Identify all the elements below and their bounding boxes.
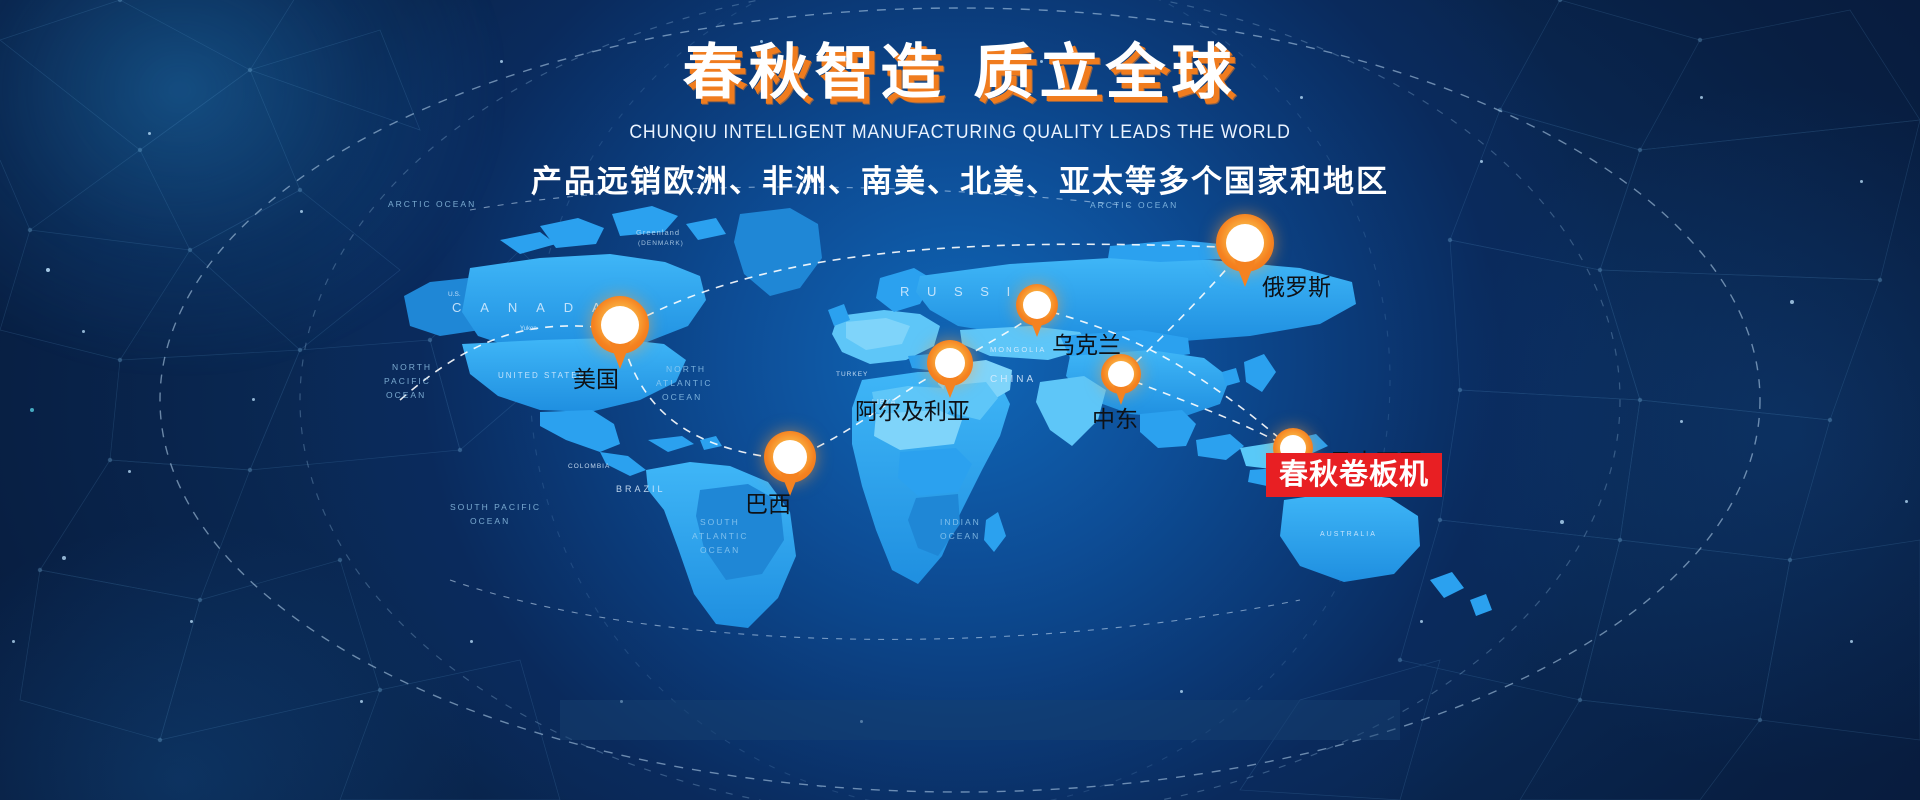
svg-text:ARCTIC OCEAN: ARCTIC OCEAN <box>1090 200 1178 210</box>
page-title: 春秋智造 质立全球 <box>0 42 1920 106</box>
headline-subtitle-cn: 产品远销欧洲、非洲、南美、北美、亚太等多个国家和地区 <box>0 156 1920 201</box>
map-pin-usa[interactable] <box>591 296 649 354</box>
map-pin-label-algeria: 阿尔及利亚 <box>855 392 970 426</box>
pin-core-icon <box>773 440 807 474</box>
svg-text:NORTH: NORTH <box>666 364 706 374</box>
svg-text:BRAZIL: BRAZIL <box>616 484 666 494</box>
banner-stage: ARCTIC OCEAN ARCTIC OCEAN NORTH PACIFIC … <box>0 0 1920 800</box>
headline-subtitle-en: CHUNQIU INTELLIGENT MANUFACTURING QUALIT… <box>67 122 1853 144</box>
svg-text:NORTH: NORTH <box>392 362 432 372</box>
map-pin-ukraine[interactable] <box>1016 284 1058 326</box>
map-pin-label-brazil: 巴西 <box>745 485 791 519</box>
map-pin-label-usa: 美国 <box>573 360 619 394</box>
map-pin-label-middleeast: 中东 <box>1092 400 1138 434</box>
svg-text:INDIAN: INDIAN <box>940 517 981 527</box>
svg-text:ATLANTIC: ATLANTIC <box>656 378 712 388</box>
product-badge[interactable]: 春秋卷板机 <box>1266 453 1442 497</box>
pin-core-icon <box>1023 291 1051 319</box>
map-pin-middleeast[interactable] <box>1101 354 1141 394</box>
headline-block: 春秋智造 质立全球 CHUNQIU INTELLIGENT MANUFACTUR… <box>0 42 1920 201</box>
svg-text:TURKEY: TURKEY <box>836 371 868 378</box>
svg-text:OCEAN: OCEAN <box>470 516 510 526</box>
svg-text:CHINA: CHINA <box>990 374 1036 385</box>
svg-text:OCEAN: OCEAN <box>700 545 740 555</box>
svg-text:PACIFIC: PACIFIC <box>384 376 431 386</box>
svg-text:AUSTRALIA: AUSTRALIA <box>1320 531 1377 538</box>
map-pin-brazil[interactable] <box>764 431 816 483</box>
map-pin-algeria[interactable] <box>927 340 973 386</box>
svg-text:Greenland: Greenland <box>636 228 680 237</box>
svg-text:SOUTH: SOUTH <box>700 517 740 527</box>
svg-text:MONGOLIA: MONGOLIA <box>990 345 1046 354</box>
svg-text:C A N A D A: C A N A D A <box>452 300 609 315</box>
svg-text:(DENMARK): (DENMARK) <box>638 240 684 247</box>
pin-core-icon <box>601 306 639 344</box>
svg-text:COLOMBIA: COLOMBIA <box>568 463 610 470</box>
map-pin-label-ukraine: 乌克兰 <box>1052 326 1121 360</box>
map-pin-label-russia: 俄罗斯 <box>1262 268 1331 302</box>
map-pin-russia[interactable] <box>1216 214 1274 272</box>
pin-core-icon <box>1226 224 1264 262</box>
svg-text:OCEAN: OCEAN <box>662 392 702 402</box>
svg-text:U.S.: U.S. <box>448 291 461 298</box>
pin-core-icon <box>1108 361 1134 387</box>
svg-text:OCEAN: OCEAN <box>386 390 426 400</box>
svg-text:Yukon: Yukon <box>520 326 537 332</box>
svg-text:OCEAN: OCEAN <box>940 531 980 541</box>
svg-text:ATLANTIC: ATLANTIC <box>692 531 748 541</box>
pin-core-icon <box>935 348 965 378</box>
svg-text:SOUTH PACIFIC: SOUTH PACIFIC <box>450 502 541 512</box>
